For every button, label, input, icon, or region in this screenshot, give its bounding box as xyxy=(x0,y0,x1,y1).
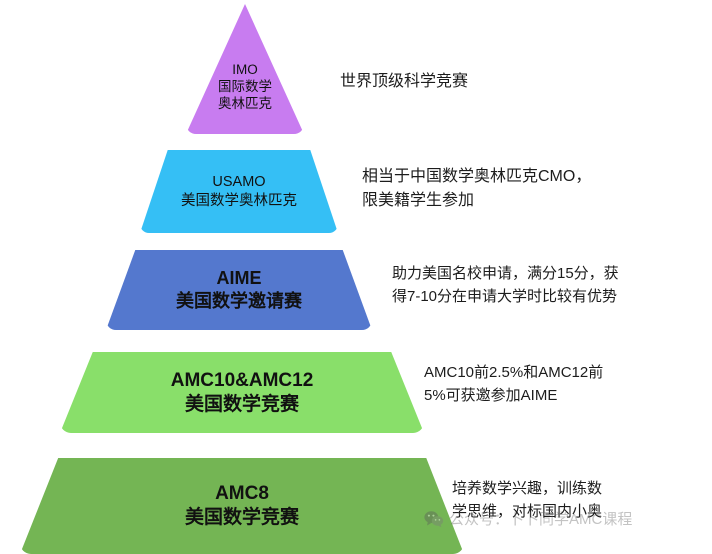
tier-imo-name-line2: 奥林匹克 xyxy=(218,95,272,112)
pyramid-tier-aime: AIME 美国数学邀请赛 xyxy=(106,250,372,330)
tier-usamo-description: 相当于中国数学奥林匹克CMO， 限美籍学生参加 xyxy=(362,165,702,213)
tier-amc1012-acronym: AMC10&AMC12 xyxy=(171,369,314,393)
tier-aime-description: 助力美国名校申请，满分15分，获 得7-10分在申请大学时比较有优势 xyxy=(392,263,704,308)
tier-aime-name-line1: 美国数学邀请赛 xyxy=(176,290,302,313)
tier-usamo-name-line1: 美国数学奥林匹克 xyxy=(181,192,297,210)
tier-usamo-acronym: USAMO xyxy=(212,173,265,191)
tier-amc8-acronym: AMC8 xyxy=(215,482,269,506)
tier-imo-description: 世界顶级科学竞赛 xyxy=(340,70,468,94)
tier-imo-name-line1: 国际数学 xyxy=(218,78,272,95)
pyramid-tier-amc8: AMC8 美国数学竞赛 xyxy=(20,458,464,554)
pyramid-tier-usamo: USAMO 美国数学奥林匹克 xyxy=(140,150,338,233)
pyramid-tier-imo: IMO 国际数学 奥林匹克 xyxy=(186,4,304,134)
pyramid-diagram: IMO 国际数学 奥林匹克 世界顶级科学竞赛 USAMO 美国数学奥林匹克 相当… xyxy=(0,0,712,548)
tier-imo-acronym: IMO xyxy=(232,61,258,78)
tier-amc8-name-line1: 美国数学竞赛 xyxy=(185,506,299,530)
tier-amc1012-name-line1: 美国数学竞赛 xyxy=(185,393,299,417)
tier-aime-acronym: AIME xyxy=(217,267,262,290)
tier-amc1012-description: AMC10前2.5%和AMC12前 5%可获邀参加AIME xyxy=(424,362,708,407)
pyramid-tier-amc1012: AMC10&AMC12 美国数学竞赛 xyxy=(60,352,424,433)
tier-amc8-description: 培养数学兴趣，训练数 学思维，对标国内小奥 xyxy=(452,478,710,523)
